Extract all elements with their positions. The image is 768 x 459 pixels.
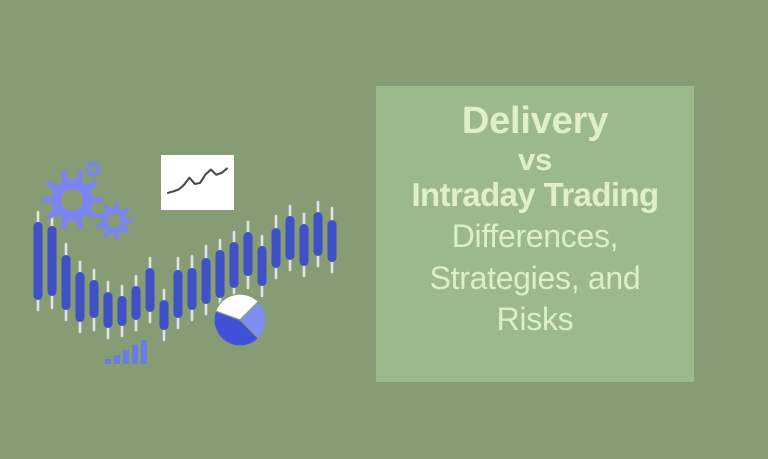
title-line-vs: vs [518, 144, 552, 176]
pie-chart [214, 294, 266, 346]
subtitle-line-risks: Risks [497, 299, 574, 341]
finance-illustration [0, 130, 360, 380]
bar-4 [132, 345, 138, 364]
subtitle-line-strategies: Strategies, and [430, 258, 641, 300]
line-chart-card [161, 155, 234, 210]
mini-bar-chart [105, 340, 147, 364]
gears-group [42, 160, 133, 240]
bar-2 [114, 355, 120, 364]
bar-1 [105, 359, 111, 364]
bar-5 [141, 340, 147, 364]
subtitle-line-differences: Differences, [452, 216, 619, 258]
title-line-intraday-trading: Intraday Trading [411, 178, 658, 212]
poster-canvas: Delivery vs Intraday Trading Differences… [0, 0, 768, 459]
title-panel: Delivery vs Intraday Trading Differences… [376, 86, 694, 382]
bar-3 [123, 350, 129, 364]
title-line-delivery: Delivery [462, 102, 608, 142]
